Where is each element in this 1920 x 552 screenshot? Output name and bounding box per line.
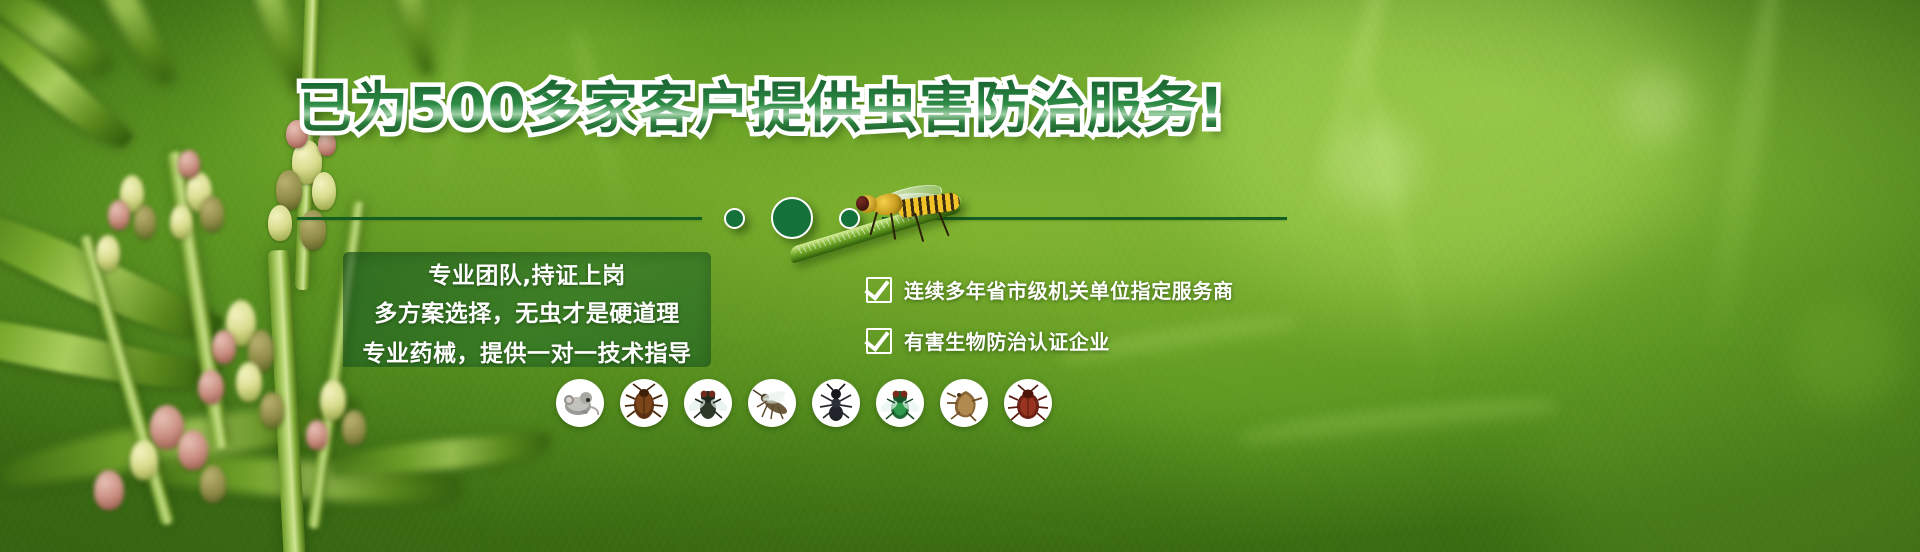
highlight-panel: 专业团队,持证上岗 多方案选择，无虫才是硬道理 专业药械，提供一对一技术指导 [343, 252, 711, 367]
headline: 已为500多家客户提供虫害防治服务! 已为500多家客户提供虫害防治服务! [297, 76, 1287, 142]
checkbox-checked-icon [866, 328, 892, 354]
fly-eye [856, 196, 869, 211]
plant-leaf [221, 0, 309, 97]
mosquito-icon[interactable] [748, 379, 796, 427]
cockroach-icon[interactable] [620, 379, 668, 427]
checklist: 连续多年省市级机关单位指定服务商 有害生物防治认证企业 [866, 275, 1296, 377]
promo-banner: 已为500多家客户提供虫害防治服务! 已为500多家客户提供虫害防治服务! 专业… [0, 0, 1920, 552]
panel-line-3: 专业药械，提供一对一技术指导 [343, 334, 711, 374]
fly-icon[interactable] [684, 379, 732, 427]
ant-icon[interactable] [812, 379, 860, 427]
panel-line-2: 多方案选择，无虫才是硬道理 [343, 294, 711, 334]
checklist-item-label: 有害生物防治认证企业 [904, 326, 1110, 355]
green-fly-icon[interactable] [876, 379, 924, 427]
checklist-item: 连续多年省市级机关单位指定服务商 [866, 275, 1296, 304]
plant-leaf [375, 0, 435, 77]
mouse-icon[interactable] [556, 379, 604, 427]
checklist-item: 有害生物防治认证企业 [866, 326, 1296, 355]
pest-icon-row [556, 379, 1052, 427]
checklist-item-label: 连续多年省市级机关单位指定服务商 [904, 275, 1234, 304]
divider-line-left [297, 217, 702, 220]
flea-icon[interactable] [940, 379, 988, 427]
divider-dot-small [724, 208, 745, 229]
checkbox-checked-icon [866, 277, 892, 303]
bedbug-icon[interactable] [1004, 379, 1052, 427]
headline-text: 已为500多家客户提供虫害防治服务! [297, 76, 1287, 140]
panel-line-1: 专业团队,持证上岗 [343, 258, 711, 294]
